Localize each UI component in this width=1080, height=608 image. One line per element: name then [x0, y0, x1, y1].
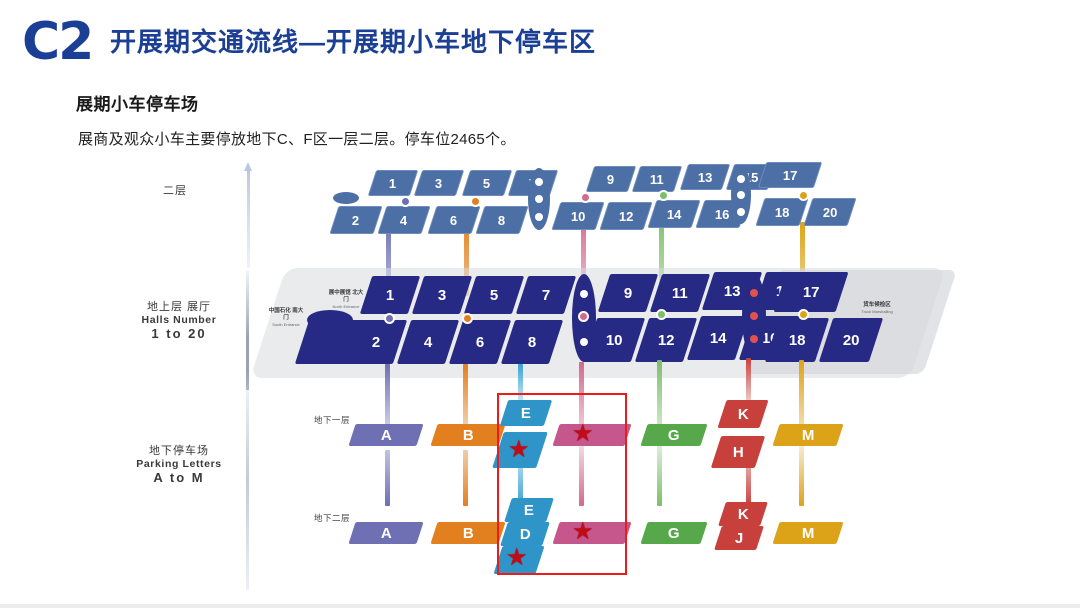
b2-zone-B: B — [430, 522, 505, 544]
b2-zone-A-label: A — [381, 525, 392, 542]
b2-zone-J-label: J — [735, 530, 743, 547]
b2-zone-J: J — [714, 526, 764, 550]
level2-oval-dot-1 — [535, 178, 543, 186]
b1-zone-B: B — [430, 424, 505, 446]
level2-hall-1-label: 1 — [389, 176, 396, 191]
north-entrance-en: North Entrance — [326, 304, 366, 309]
north-entrance-annotation: 展中展馆 北大门 North Entrance — [326, 290, 366, 309]
ground-ring-pink — [578, 311, 589, 322]
ground-hall-7-label: 7 — [542, 287, 550, 304]
level2-hall-5: 5 — [462, 170, 512, 196]
section-code: C2 — [22, 16, 92, 68]
level2-hall-4: 4 — [377, 206, 430, 234]
level2-hall-17-label: 17 — [783, 168, 797, 183]
facility-diagram: 二层 地上层 展厅 Halls Number 1 to 20 地下停车场 Par… — [0, 150, 1080, 590]
level2-hall-14: 14 — [647, 200, 700, 228]
floor-tag-basement2: 地下二层 — [314, 512, 350, 524]
b1-zone-A-label: A — [381, 427, 392, 444]
highlight-box-underground-parking — [497, 393, 627, 575]
level2-right-oval-dot-3 — [737, 208, 745, 216]
level2-hall-2: 2 — [329, 206, 382, 234]
level2-hall-9: 9 — [586, 166, 636, 192]
level2-hall-12: 12 — [599, 202, 652, 230]
ground-hall-13-label: 13 — [724, 283, 741, 300]
ground-right-oval-dot-3 — [750, 335, 758, 343]
level2-hall-17: 17 — [758, 162, 822, 188]
b2-zone-B-label: B — [463, 525, 474, 542]
level2-hall-14-label: 14 — [667, 207, 681, 222]
b1-zone-A: A — [348, 424, 423, 446]
level2-hall-4-label: 4 — [400, 213, 407, 228]
ground-hall-3-label: 3 — [438, 287, 446, 304]
ground-hall-11-label: 11 — [672, 285, 688, 302]
body-text: 展商及观众小车主要停放地下C、F区一层二层。停车位2465个。 — [78, 128, 516, 149]
north-entrance-cn: 展中展馆 北大门 — [326, 290, 366, 304]
up-arrow-icon — [244, 160, 252, 268]
ground-hall-1-label: 1 — [386, 287, 394, 304]
level2-right-oval-dot-2 — [737, 191, 745, 199]
ground-right-oval-dot-1 — [750, 289, 758, 297]
b2-zone-G-label: G — [668, 525, 680, 542]
level2-oval-dot-3 — [535, 213, 543, 221]
row-label-ground-cn: 地上层 展厅 — [120, 298, 238, 314]
ground-hall-20-label: 20 — [843, 332, 860, 349]
ground-right-oval-dot-2 — [750, 312, 758, 320]
level2-hall-3: 3 — [414, 170, 464, 196]
row-label-ground-en: Halls Number — [120, 314, 238, 326]
b1-zone-K-label: K — [738, 406, 749, 423]
ground-ring-gold — [798, 309, 809, 320]
ground-hall-12-label: 12 — [658, 332, 675, 349]
level2-hall-18-label: 18 — [775, 205, 789, 220]
connector-gold-b1b2 — [799, 446, 804, 506]
row-label-parking-cn: 地下停车场 — [118, 442, 240, 458]
level2-service-oval — [528, 168, 550, 230]
row-label-parking: 地下停车场 Parking Letters A to M — [118, 442, 240, 485]
truck-marshalling-en: Truck Marshalling — [854, 309, 900, 314]
b1-zone-K: K — [717, 400, 768, 428]
level2-hall-12-label: 12 — [619, 209, 633, 224]
level2-oval-dot-2 — [535, 195, 543, 203]
ground-ring-green — [656, 309, 667, 320]
connector-green-b1b2 — [657, 446, 662, 506]
axis-line-lower — [246, 390, 249, 590]
ground-oval-dot-3 — [580, 338, 588, 346]
b1-zone-M: M — [772, 424, 843, 446]
ground-hall-18-label: 18 — [789, 332, 806, 349]
b2-zone-K-label: K — [738, 506, 749, 523]
level2-left-nub — [333, 192, 359, 204]
ground-hall-6-label: 6 — [476, 334, 484, 351]
level2-hall-11-label: 11 — [650, 172, 664, 187]
level2-ring-1 — [400, 196, 411, 207]
ground-oval-dot-1 — [580, 290, 588, 298]
footer-strip — [0, 604, 1080, 608]
level2-hall-10-label: 10 — [571, 209, 585, 224]
level2-hall-11: 11 — [632, 166, 682, 192]
level2-right-oval-dot-1 — [737, 175, 745, 183]
ground-hall-5-label: 5 — [490, 287, 498, 304]
ground-ring-orange — [462, 313, 473, 324]
level2-right-oval — [731, 166, 751, 224]
b2-zone-G: G — [640, 522, 707, 544]
b1-zone-G: G — [640, 424, 707, 446]
ground-hall-2-label: 2 — [372, 334, 380, 351]
b1-zone-H-label: H — [733, 444, 744, 461]
level2-hall-10: 10 — [551, 202, 604, 230]
slide-header: C2 开展期交通流线—开展期小车地下停车区 — [0, 0, 1080, 78]
level2-hall-2-label: 2 — [352, 213, 359, 228]
level2-hall-13: 13 — [680, 164, 730, 190]
b1-zone-G-label: G — [668, 427, 680, 444]
level2-hall-1: 1 — [368, 170, 418, 196]
b2-zone-M: M — [772, 522, 843, 544]
ground-hall-4-label: 4 — [424, 334, 432, 351]
level2-hall-8-label: 8 — [498, 213, 505, 228]
level2-ring-4 — [658, 190, 669, 201]
row-label-ground: 地上层 展厅 Halls Number 1 to 20 — [120, 298, 238, 341]
sub-title: 展期小车停车场 — [76, 90, 199, 115]
truck-marshalling-cn: 货车候检区 — [854, 302, 900, 309]
level2-hall-6: 6 — [427, 206, 480, 234]
row-label-parking-range: A to M — [118, 470, 240, 485]
level2-hall-20-label: 20 — [823, 205, 837, 220]
b1-zone-B-label: B — [463, 427, 474, 444]
ground-right-oval — [742, 274, 766, 358]
b1-zone-M-label: M — [802, 427, 815, 444]
level2-ring-3 — [580, 192, 591, 203]
floor-tag-basement1: 地下一层 — [314, 414, 350, 426]
ground-hall-17: 17 — [774, 272, 849, 312]
ground-hall-17-label: 17 — [803, 284, 820, 301]
level2-hall-9-label: 9 — [607, 172, 614, 187]
level2-hall-3-label: 3 — [435, 176, 442, 191]
level2-hall-13-label: 13 — [698, 170, 712, 185]
south-entrance-annotation: 中国石化 南大门 South Entrance — [268, 308, 304, 327]
page-title: 开展期交通流线—开展期小车地下停车区 — [110, 26, 596, 58]
row-label-parking-en: Parking Letters — [118, 458, 240, 470]
level2-hall-18: 18 — [755, 198, 808, 226]
ground-hall-8-label: 8 — [528, 334, 536, 351]
connector-red-lower — [746, 358, 751, 404]
south-entrance-cn: 中国石化 南大门 — [268, 308, 304, 322]
level2-hall-5-label: 5 — [483, 176, 490, 191]
ground-ring-purple — [384, 313, 395, 324]
connector-purple-b1b2 — [385, 450, 390, 506]
row-label-level2: 二层 — [140, 182, 210, 198]
b1-zone-H: H — [711, 436, 765, 468]
b2-zone-K: K — [718, 502, 768, 526]
row-label-ground-range: 1 to 20 — [120, 326, 238, 341]
ground-hall-9-label: 9 — [624, 285, 632, 302]
level2-hall-16-label: 16 — [715, 207, 729, 222]
connector-orange-b1b2 — [463, 450, 468, 506]
level2-ring-5 — [798, 190, 809, 201]
truck-marshalling-annotation: 货车候检区 Truck Marshalling — [854, 302, 900, 314]
slide-root: C2 开展期交通流线—开展期小车地下停车区 展期小车停车场 展商及观众小车主要停… — [0, 0, 1080, 608]
ground-hall-14-label: 14 — [710, 330, 727, 347]
b2-zone-A: A — [348, 522, 423, 544]
row-label-level2-cn: 二层 — [140, 182, 210, 198]
level2-ring-2 — [470, 196, 481, 207]
b2-zone-M-label: M — [802, 525, 815, 542]
level2-hall-20: 20 — [803, 198, 856, 226]
level2-hall-8: 8 — [475, 206, 528, 234]
ground-hall-10-label: 10 — [606, 332, 623, 349]
south-entrance-en: South Entrance — [268, 322, 304, 327]
level2-hall-6-label: 6 — [450, 213, 457, 228]
